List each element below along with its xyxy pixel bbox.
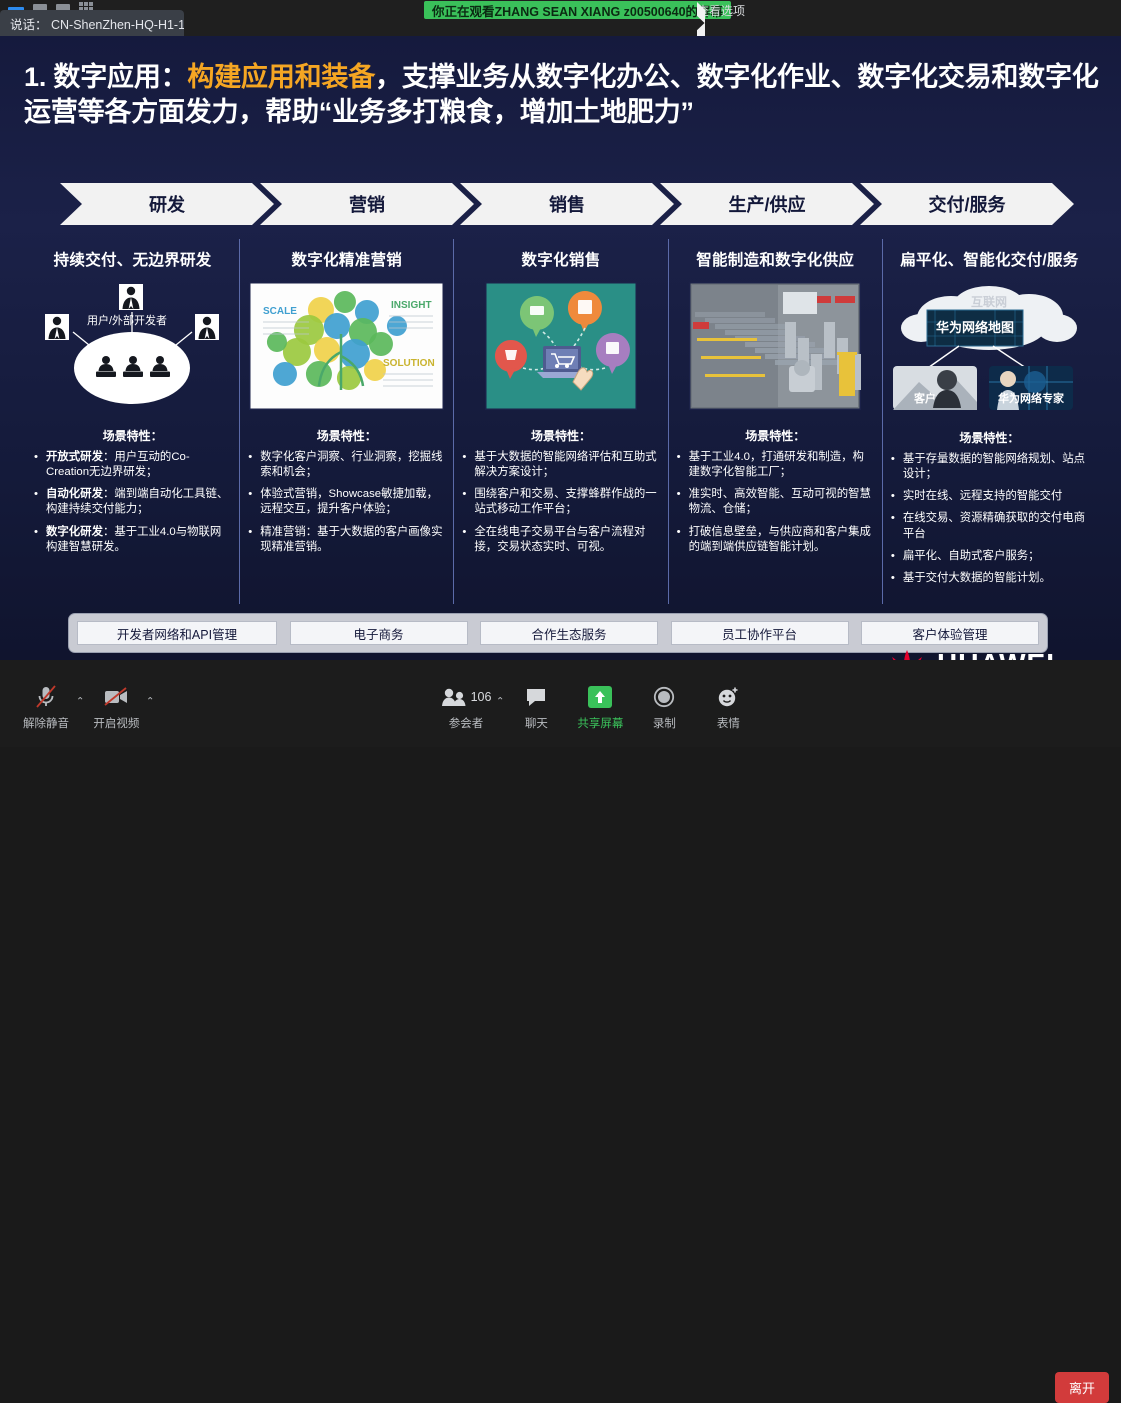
toolbar-item-label: 共享屏幕 bbox=[577, 715, 623, 731]
scenario-column-2: 数字化精准营销SCALEINSIGHTSOLUTION场景特性：•数字化客户洞察… bbox=[239, 239, 453, 604]
toolbar-chat[interactable]: 聊天 bbox=[504, 676, 568, 731]
feature-bullet-body: 打破信息壁垒，与供应商和客户集成的端到端供应链智能计划。 bbox=[689, 526, 871, 553]
bullet-dot-icon: • bbox=[677, 450, 683, 480]
feature-bullet-body: 基于交付大数据的智能计划。 bbox=[903, 572, 1051, 584]
feature-bullet-body: 围绕客户和交易、支撑蜂群作战的一站式移动工作平台； bbox=[474, 488, 656, 515]
process-step-label: 生产/供应 bbox=[728, 191, 805, 217]
process-step-label: 销售 bbox=[549, 191, 585, 217]
scenario-column-3: 数字化销售场景特性：•基于大数据的智能网络评估和互助式解决方案设计；•围绕客户和… bbox=[453, 239, 667, 604]
svg-text:华为网络专家: 华为网络专家 bbox=[998, 391, 1065, 405]
feature-title: 场景特性： bbox=[460, 427, 661, 444]
bullet-dot-icon: • bbox=[462, 487, 468, 517]
feature-bullet: •在线交易、资源精确获取的交付电商平台 bbox=[891, 511, 1088, 541]
scenario-column-header: 数字化销售 bbox=[460, 239, 661, 270]
toolbar-item-label: 表情 bbox=[717, 715, 740, 731]
scenario-column-header: 智能制造和数字化供应 bbox=[675, 239, 876, 270]
svg-text:用户/外部开发者: 用户/外部开发者 bbox=[87, 313, 167, 327]
feature-bullet-text: 围绕客户和交易、支撑蜂群作战的一站式移动工作平台； bbox=[474, 487, 659, 517]
title-prefix: 1. 数字应用： bbox=[24, 62, 187, 92]
feature-bullet-text: 体验式营销，Showcase敏捷加载，远程交互，提升客户体验； bbox=[260, 487, 445, 517]
scenario-column-4: 智能制造和数字化供应场景特性：•基于工业4.0，打通研发和制造，构建数字化智能工… bbox=[668, 239, 882, 604]
leave-meeting-button[interactable]: 离开 bbox=[1055, 1372, 1109, 1403]
bullet-dot-icon: • bbox=[891, 489, 897, 504]
feature-bullet: •准实时、高效智能、互动可视的智慧物流、仓储； bbox=[677, 487, 874, 517]
scenario-column-illustration bbox=[460, 282, 661, 415]
platform-item-1: 开发者网络和API管理 bbox=[77, 621, 277, 645]
feature-title: 场景特性： bbox=[246, 427, 447, 444]
participants-icon: 106 bbox=[441, 684, 492, 710]
chat-icon bbox=[525, 684, 547, 710]
feature-bullet-text: 在线交易、资源精确获取的交付电商平台 bbox=[903, 511, 1088, 541]
feature-bullet-body: 数字化客户洞察、行业洞察，挖掘线索和机会； bbox=[260, 451, 442, 478]
feature-bullet: •体验式营销，Showcase敏捷加载，远程交互，提升客户体验； bbox=[248, 487, 445, 517]
process-step-label: 交付/服务 bbox=[928, 191, 1005, 217]
svg-text:SCALE: SCALE bbox=[263, 306, 297, 317]
process-chevron-bar: 研发营销销售生产/供应交付/服务 bbox=[60, 183, 1060, 225]
feature-bullet-body: 基于大数据的智能网络评估和互助式解决方案设计； bbox=[474, 451, 656, 478]
feature-title: 场景特性： bbox=[889, 429, 1090, 446]
toolbar-left-group: 解除静音⌄开启视频⌄ bbox=[14, 660, 155, 747]
bullet-dot-icon: • bbox=[462, 450, 468, 480]
feature-bullet-body: 扁平化、自助式客户服务； bbox=[903, 550, 1040, 562]
feature-bullet-text: 精准营销：基于大数据的客户画像实现精准营销。 bbox=[260, 525, 445, 555]
feature-bullet-text: 准实时、高效智能、互动可视的智慧物流、仓储； bbox=[689, 487, 874, 517]
platform-item-2: 电子商务 bbox=[290, 621, 468, 645]
feature-bullet: •围绕客户和交易、支撑蜂群作战的一站式移动工作平台； bbox=[462, 487, 659, 517]
feature-bullet-body: 准实时、高效智能、互动可视的智慧物流、仓储； bbox=[689, 488, 871, 515]
svg-text:互联网: 互联网 bbox=[971, 295, 1007, 309]
video-muted-icon bbox=[103, 684, 129, 710]
chevron-up-icon[interactable]: ⌄ bbox=[496, 694, 504, 705]
feature-bullet-text: 自动化研发：端到端自动化工具链、构建持续交付能力； bbox=[46, 487, 231, 517]
feature-bullet: •基于存量数据的智能网络规划、站点设计； bbox=[891, 452, 1088, 482]
bullet-dot-icon: • bbox=[34, 450, 40, 480]
feature-bullet-text: 数字化研发：基于工业4.0与物联网构建智慧研发。 bbox=[46, 525, 231, 555]
toolbar-center-group: 106参会者⌄聊天共享屏幕录制表情 bbox=[434, 660, 760, 747]
toolbar-video-muted[interactable]: 开启视频 bbox=[84, 676, 148, 731]
active-speaker-label: 说话： CN-ShenZhen-HQ-H1-1... bbox=[10, 14, 184, 33]
delivery-network-illustration: 互联网华为网络地图客户华为网络专家 bbox=[889, 282, 1089, 412]
feature-bullet-text: 基于工业4.0，打通研发和制造，构建数字化智能工厂； bbox=[689, 450, 874, 480]
feature-bullet-body: 体验式营销，Showcase敏捷加载，远程交互，提升客户体验； bbox=[260, 488, 438, 515]
share-screen-icon bbox=[587, 684, 613, 710]
feature-bullet-text: 基于交付大数据的智能计划。 bbox=[903, 571, 1051, 586]
feature-bullet-text: 全在线电子交易平台与客户流程对接，交易状态实时、可视。 bbox=[474, 525, 659, 555]
feature-bullet-text: 基于存量数据的智能网络规划、站点设计； bbox=[903, 452, 1088, 482]
feature-bullet-text: 打破信息壁垒，与供应商和客户集成的端到端供应链智能计划。 bbox=[689, 525, 874, 555]
feature-bullet: •实时在线、远程支持的智能交付 bbox=[891, 489, 1088, 504]
screen-share-banner: 你正在观看ZHANG SEAN XIANG z00500640的屏幕 bbox=[424, 1, 731, 19]
svg-text:客户: 客户 bbox=[913, 391, 936, 405]
feature-bullet: •精准营销：基于大数据的客户画像实现精准营销。 bbox=[248, 525, 445, 555]
scenario-column-illustration: SCALEINSIGHTSOLUTION bbox=[246, 282, 447, 415]
bullet-dot-icon: • bbox=[248, 525, 254, 555]
bullet-dot-icon: • bbox=[34, 487, 40, 517]
feature-bullet-list: •基于工业4.0，打通研发和制造，构建数字化智能工厂；•准实时、高效智能、互动可… bbox=[675, 450, 876, 555]
feature-bullet-body: 基于工业4.0，打通研发和制造，构建数字化智能工厂； bbox=[689, 451, 864, 478]
toolbar-share-screen[interactable]: 共享屏幕 bbox=[568, 676, 632, 731]
bullet-dot-icon: • bbox=[891, 511, 897, 541]
feature-bullet-body: 在线交易、资源精确获取的交付电商平台 bbox=[903, 512, 1085, 539]
feature-title: 场景特性： bbox=[32, 427, 233, 444]
feature-bullet-lead: 开放式研发 bbox=[46, 451, 103, 463]
chevron-up-icon[interactable]: ⌄ bbox=[76, 694, 84, 705]
scenario-column-illustration: 互联网华为网络地图客户华为网络专家 bbox=[889, 282, 1090, 417]
bullet-dot-icon: • bbox=[891, 549, 897, 564]
scenario-column-1: 持续交付、无边界研发用户/外部开发者场景特性：•开放式研发：用户互动的Co-Cr… bbox=[26, 239, 239, 604]
feature-bullet: •数字化客户洞察、行业洞察，挖掘线索和机会； bbox=[248, 450, 445, 480]
feature-bullet: •自动化研发：端到端自动化工具链、构建持续交付能力； bbox=[34, 487, 231, 517]
active-speaker-tab[interactable]: 说话： CN-ShenZhen-HQ-H1-1... bbox=[0, 10, 184, 36]
bullet-dot-icon: • bbox=[677, 525, 683, 555]
process-step-label: 营销 bbox=[349, 191, 385, 217]
platform-item-3: 合作生态服务 bbox=[480, 621, 658, 645]
scenario-columns: 持续交付、无边界研发用户/外部开发者场景特性：•开放式研发：用户互动的Co-Cr… bbox=[26, 239, 1096, 604]
app-top-bar: 说话： CN-ShenZhen-HQ-H1-1... 你正在观看ZHANG SE… bbox=[0, 0, 1121, 36]
microphone-muted-icon bbox=[35, 684, 57, 710]
smart-factory-illustration bbox=[689, 282, 861, 410]
scenario-column-illustration bbox=[675, 282, 876, 415]
slide-content: 1. 数字应用：构建应用和装备，支撑业务从数字化办公、数字化作业、数字化交易和数… bbox=[0, 36, 1121, 660]
platform-item-5: 客户体验管理 bbox=[861, 621, 1039, 645]
process-step-2: 营销 bbox=[260, 183, 474, 225]
bullet-dot-icon: • bbox=[462, 525, 468, 555]
feature-bullet-text: 开放式研发：用户互动的Co-Creation无边界研发； bbox=[46, 450, 231, 480]
toolbar-participants[interactable]: 106参会者 bbox=[434, 676, 498, 731]
feature-bullet: •基于工业4.0，打通研发和制造，构建数字化智能工厂； bbox=[677, 450, 874, 480]
title-highlight: 构建应用和装备 bbox=[187, 62, 375, 92]
scenario-column-header: 数字化精准营销 bbox=[246, 239, 447, 270]
process-step-4: 生产/供应 bbox=[660, 183, 874, 225]
process-step-1: 研发 bbox=[60, 183, 274, 225]
bullet-dot-icon: • bbox=[891, 452, 897, 482]
feature-bullet-text: 实时在线、远程支持的智能交付 bbox=[903, 489, 1062, 504]
bullet-dot-icon: • bbox=[677, 487, 683, 517]
bullet-dot-icon: • bbox=[891, 571, 897, 586]
toolbar-microphone-muted[interactable]: 解除静音 bbox=[14, 676, 78, 731]
chevron-up-icon[interactable]: ⌄ bbox=[146, 694, 154, 705]
feature-bullet-list: •基于存量数据的智能网络规划、站点设计；•实时在线、远程支持的智能交付•在线交易… bbox=[889, 452, 1090, 586]
meeting-toolbar: 解除静音⌄开启视频⌄ 106参会者⌄聊天共享屏幕录制表情 离开 bbox=[0, 660, 1121, 747]
platform-item-4: 员工协作平台 bbox=[671, 621, 849, 645]
bullet-dot-icon: • bbox=[248, 487, 254, 517]
feature-bullet: •数字化研发：基于工业4.0与物联网构建智慧研发。 bbox=[34, 525, 231, 555]
process-step-5: 交付/服务 bbox=[860, 183, 1074, 225]
feature-bullet: •打破信息壁垒，与供应商和客户集成的端到端供应链智能计划。 bbox=[677, 525, 874, 555]
shared-slide: 1. 数字应用：构建应用和装备，支撑业务从数字化办公、数字化作业、数字化交易和数… bbox=[0, 36, 1121, 660]
scenario-column-illustration: 用户/外部开发者 bbox=[32, 282, 233, 415]
bullet-dot-icon: • bbox=[34, 525, 40, 555]
feature-bullet: •开放式研发：用户互动的Co-Creation无边界研发； bbox=[34, 450, 231, 480]
feature-bullet-body: 精准营销：基于大数据的客户画像实现精准营销。 bbox=[260, 526, 442, 553]
feature-bullet-text: 扁平化、自助式客户服务； bbox=[903, 549, 1040, 564]
feature-bullet: •基于交付大数据的智能计划。 bbox=[891, 571, 1088, 586]
toolbar-item-label: 录制 bbox=[653, 715, 676, 731]
bullet-dot-icon: • bbox=[248, 450, 254, 480]
feature-bullet-lead: 自动化研发 bbox=[46, 488, 103, 500]
scenario-column-header: 持续交付、无边界研发 bbox=[32, 239, 233, 270]
toolbar-reactions[interactable]: 表情 bbox=[696, 676, 760, 731]
feature-bullet-body: 实时在线、远程支持的智能交付 bbox=[903, 490, 1062, 502]
svg-text:INSIGHT: INSIGHT bbox=[391, 300, 432, 311]
feature-bullet-body: 基于存量数据的智能网络规划、站点设计； bbox=[903, 453, 1085, 480]
toolbar-item-label: 解除静音 bbox=[23, 715, 69, 731]
marketing-tree-illustration: SCALEINSIGHTSOLUTION bbox=[249, 282, 444, 410]
toolbar-item-label: 参会者 bbox=[449, 715, 484, 731]
toolbar-record[interactable]: 录制 bbox=[632, 676, 696, 731]
feature-bullet: •基于大数据的智能网络评估和互助式解决方案设计； bbox=[462, 450, 659, 480]
svg-text:华为网络地图: 华为网络地图 bbox=[936, 320, 1014, 335]
platform-bar: 开发者网络和API管理电子商务合作生态服务员工协作平台客户体验管理 bbox=[68, 613, 1048, 653]
feature-bullet: •扁平化、自助式客户服务； bbox=[891, 549, 1088, 564]
feature-bullet-body: 全在线电子交易平台与客户流程对接，交易状态实时、可视。 bbox=[474, 526, 645, 553]
svg-text:SOLUTION: SOLUTION bbox=[383, 358, 435, 369]
toolbar-item-label: 聊天 bbox=[525, 715, 548, 731]
feature-bullet-list: •开放式研发：用户互动的Co-Creation无边界研发；•自动化研发：端到端自… bbox=[32, 450, 233, 555]
reactions-icon bbox=[717, 684, 739, 710]
record-icon bbox=[653, 684, 675, 710]
scenario-column-5: 扁平化、智能化交付/服务互联网华为网络地图客户华为网络专家场景特性：•基于存量数… bbox=[882, 239, 1096, 604]
digital-sales-illustration bbox=[485, 282, 637, 410]
page-title: 1. 数字应用：构建应用和装备，支撑业务从数字化办公、数字化作业、数字化交易和数… bbox=[24, 60, 1099, 129]
scenario-column-header: 扁平化、智能化交付/服务 bbox=[889, 239, 1090, 270]
screen-share-banner-label: 你正在观看ZHANG SEAN XIANG z00500640的屏幕 bbox=[432, 1, 723, 20]
feature-bullet-list: •数字化客户洞察、行业洞察，挖掘线索和机会；•体验式营销，Showcase敏捷加… bbox=[246, 450, 447, 555]
feature-bullet-lead: 数字化研发 bbox=[46, 526, 103, 538]
toolbar-item-label: 开启视频 bbox=[93, 715, 139, 731]
feature-bullet-list: •基于大数据的智能网络评估和互助式解决方案设计；•围绕客户和交易、支撑蜂群作战的… bbox=[460, 450, 661, 555]
process-step-label: 研发 bbox=[149, 191, 185, 217]
feature-bullet: •全在线电子交易平台与客户流程对接，交易状态实时、可视。 bbox=[462, 525, 659, 555]
feature-title: 场景特性： bbox=[675, 427, 876, 444]
feature-bullet-text: 数字化客户洞察、行业洞察，挖掘线索和机会； bbox=[260, 450, 445, 480]
participant-count: 106 bbox=[471, 690, 492, 704]
feature-bullet-text: 基于大数据的智能网络评估和互助式解决方案设计； bbox=[474, 450, 659, 480]
view-options-button[interactable]: 查看选项 ⌄ bbox=[697, 2, 745, 19]
process-step-3: 销售 bbox=[460, 183, 674, 225]
developer-network-illustration: 用户/外部开发者 bbox=[35, 282, 230, 410]
